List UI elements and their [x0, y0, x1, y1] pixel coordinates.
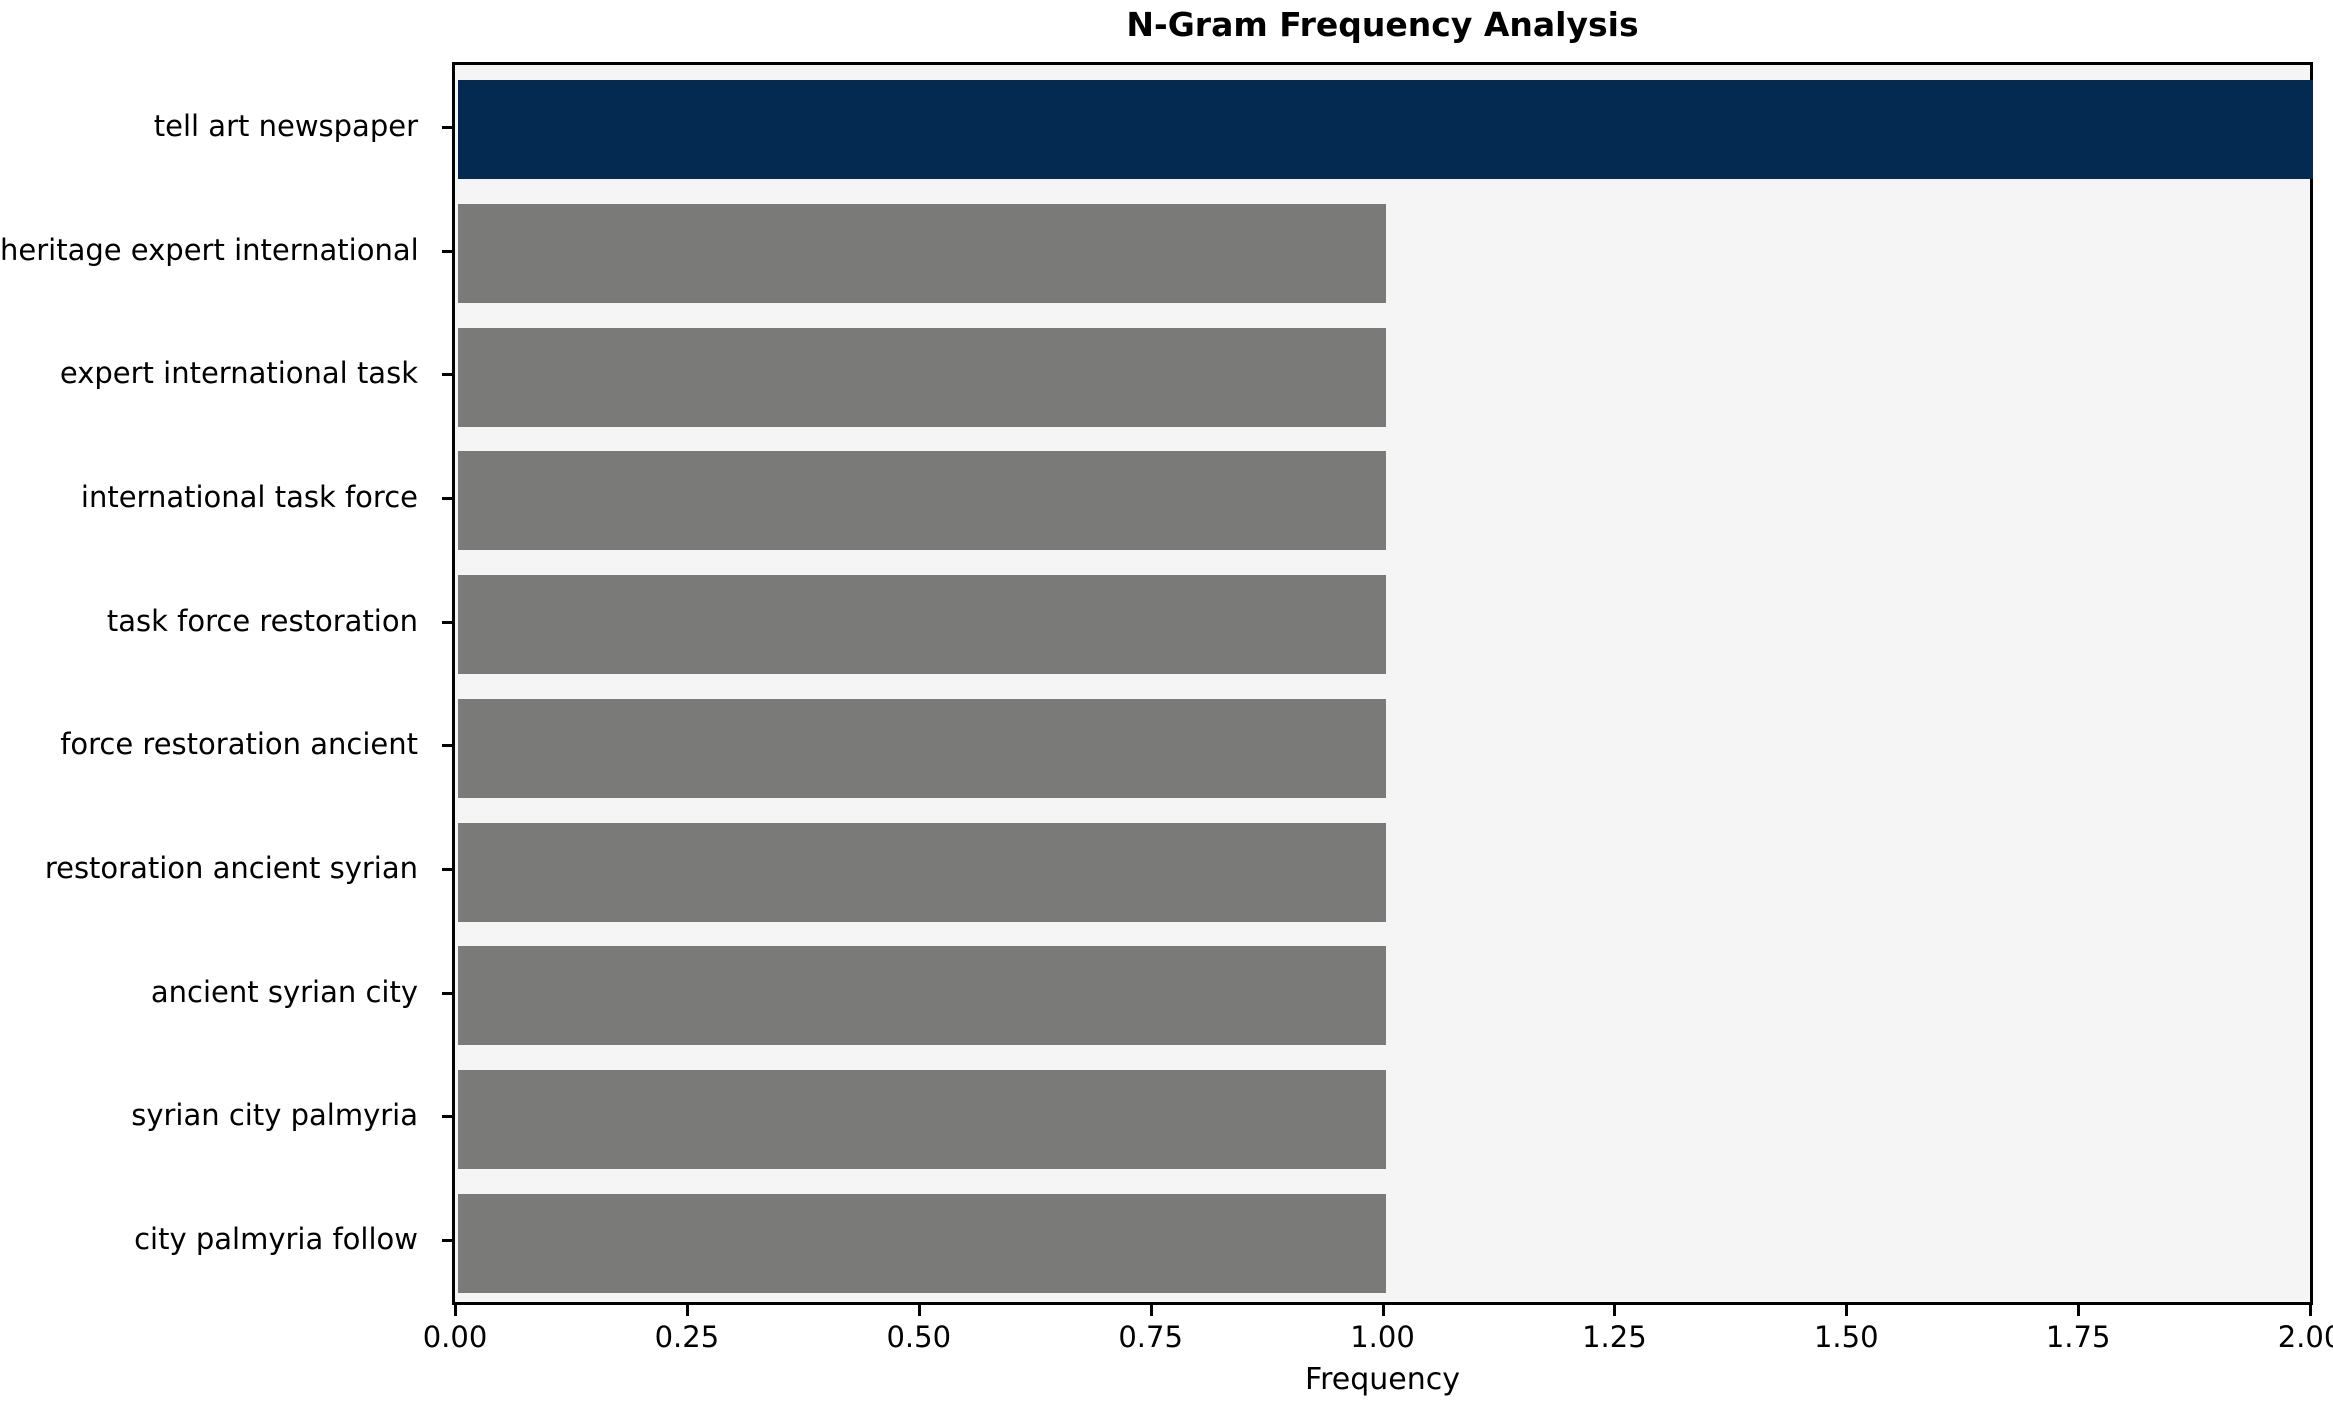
bar	[458, 204, 1386, 303]
y-axis-tick-mark	[442, 744, 453, 747]
bar	[458, 451, 1386, 550]
y-axis-tick-labels: tell art newspaperheritage expert intern…	[0, 62, 436, 1305]
y-axis-tick-mark	[442, 992, 453, 995]
y-axis-tick-label: task force restoration	[0, 607, 436, 636]
x-axis-tick-label: 0.75	[1071, 1320, 1231, 1354]
chart-figure: N-Gram Frequency Analysis tell art newsp…	[0, 0, 2333, 1414]
y-axis-tick-mark	[442, 1239, 453, 1242]
bar	[458, 575, 1386, 674]
y-axis-tick-mark	[442, 1115, 453, 1118]
x-axis-tick-label: 0.00	[375, 1320, 535, 1354]
chart-title: N-Gram Frequency Analysis	[452, 4, 2313, 46]
y-axis-tick-label: tell art newspaper	[0, 112, 436, 141]
x-axis-tick-mark	[1150, 1305, 1153, 1316]
bar	[458, 823, 1386, 922]
y-axis-tick-mark	[442, 868, 453, 871]
x-axis-tick-label: 0.25	[607, 1320, 767, 1354]
x-axis-tick-label: 1.50	[1766, 1320, 1926, 1354]
y-axis-tick-label: force restoration ancient	[0, 730, 436, 759]
y-axis-tick-label: restoration ancient syrian	[0, 854, 436, 883]
bar	[458, 946, 1386, 1045]
x-axis-tick-label: 2.00	[2230, 1320, 2333, 1354]
x-axis-tick-mark	[1613, 1305, 1616, 1316]
x-axis-tick-mark	[1382, 1305, 1385, 1316]
x-axis-label: Frequency	[452, 1362, 2313, 1398]
bar	[458, 699, 1386, 798]
x-axis-tick-mark	[454, 1305, 457, 1316]
y-axis-tick-label: ancient syrian city	[0, 978, 436, 1007]
x-axis-tick-mark	[1845, 1305, 1848, 1316]
x-axis-tick-mark	[918, 1305, 921, 1316]
bar	[458, 1194, 1386, 1293]
y-axis-tick-label: syrian city palmyria	[0, 1101, 436, 1130]
x-axis-tick-mark	[2077, 1305, 2080, 1316]
y-axis-tick-label: heritage expert international	[0, 236, 436, 265]
y-axis-tick-mark	[442, 126, 453, 129]
y-axis-tick-label: international task force	[0, 483, 436, 512]
plot-area	[452, 62, 2313, 1305]
x-axis-tick-label: 1.75	[1998, 1320, 2158, 1354]
y-axis-tick-mark	[442, 621, 453, 624]
bars-layer	[455, 65, 2310, 1302]
bar	[458, 328, 1386, 427]
x-axis-tick-label: 1.25	[1534, 1320, 1694, 1354]
y-axis-tick-label: city palmyria follow	[0, 1225, 436, 1254]
y-axis-tick-mark	[442, 497, 453, 500]
bar	[458, 80, 2313, 179]
x-axis-tick-label: 0.50	[839, 1320, 999, 1354]
x-axis-tick-mark	[686, 1305, 689, 1316]
y-axis-tick-label: expert international task	[0, 359, 436, 388]
y-axis-tick-mark	[442, 373, 453, 376]
x-axis-tick-label: 1.00	[1303, 1320, 1463, 1354]
y-axis-tick-mark	[442, 250, 453, 253]
x-axis-tick-mark	[2309, 1305, 2312, 1316]
bar	[458, 1070, 1386, 1169]
